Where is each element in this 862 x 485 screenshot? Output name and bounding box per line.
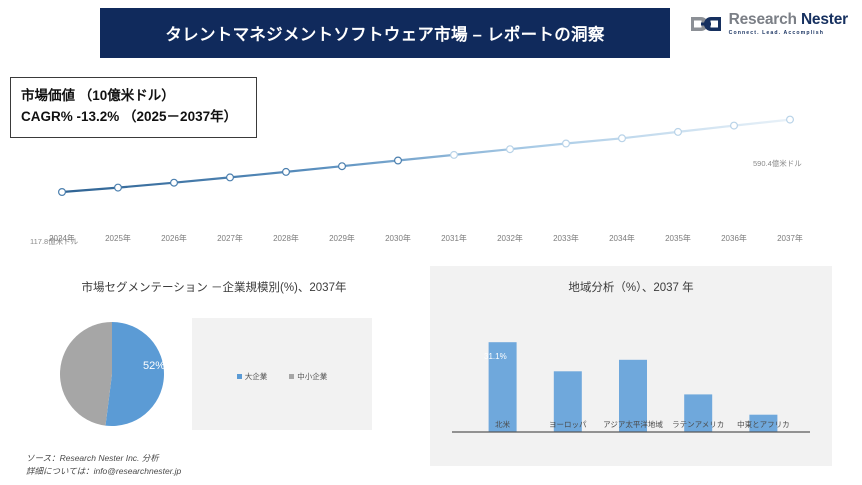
regional-analysis-title: 地域分析（%）、2037 年 bbox=[430, 280, 832, 297]
legend-item: 大企業 bbox=[237, 371, 268, 382]
bar-x-axis-label: 中東とアフリカ bbox=[737, 419, 790, 430]
x-axis-tick-label: 2028年 bbox=[273, 233, 299, 244]
bar-x-axis-label: 北米 bbox=[495, 419, 510, 430]
x-axis-tick-label: 2036年 bbox=[721, 233, 747, 244]
x-axis-tick-label: 2032年 bbox=[497, 233, 523, 244]
regional-bar-x-axis: 北米ヨーロッパアジア太平洋地域ラテンアメリカ中東とアフリカ bbox=[430, 419, 832, 433]
logo-word-research: Research bbox=[729, 11, 797, 28]
line-data-point bbox=[451, 152, 458, 159]
x-axis-tick-label: 2034年 bbox=[609, 233, 635, 244]
pie-slice-value-label: 52% bbox=[143, 360, 165, 372]
legend-swatch bbox=[237, 374, 242, 379]
line-data-point bbox=[619, 135, 626, 142]
x-axis-tick-label: 2033年 bbox=[553, 233, 579, 244]
x-axis-tick-label: 2027年 bbox=[217, 233, 243, 244]
legend-label: 中小企業 bbox=[297, 371, 327, 382]
segmentation-legend: 大企業中小企業 bbox=[192, 371, 372, 382]
line-data-point bbox=[59, 189, 66, 196]
line-data-point bbox=[227, 174, 234, 181]
line-chart-x-axis: 2024年2025年2026年2027年2028年2029年2030年2031年… bbox=[0, 233, 862, 249]
footer-contact: 詳細については：info@researchnester.jp bbox=[26, 465, 181, 478]
page-title: タレントマネジメントソフトウェア市場 – レポートの洞察 bbox=[165, 21, 604, 45]
x-axis-tick-label: 2031年 bbox=[441, 233, 467, 244]
line-data-point bbox=[563, 140, 570, 147]
x-axis-tick-label: 2029年 bbox=[329, 233, 355, 244]
legend-label: 大企業 bbox=[245, 371, 268, 382]
x-axis-tick-label: 2030年 bbox=[385, 233, 411, 244]
footer-source: ソース：Research Nester Inc. 分析 bbox=[26, 452, 181, 465]
bar-chart-svg bbox=[430, 310, 832, 455]
regional-bar-chart bbox=[430, 310, 832, 455]
brand-logo: Research Nester Connect. Lead. Accomplis… bbox=[689, 12, 848, 36]
header-band: タレントマネジメントソフトウェア市場 – レポートの洞察 bbox=[100, 8, 670, 58]
x-axis-tick-label: 2037年 bbox=[777, 233, 803, 244]
regional-analysis-panel: 地域分析（%）、2037 年 bbox=[430, 266, 832, 466]
bar-value-label: 31.1% bbox=[484, 352, 507, 361]
line-data-point bbox=[171, 179, 178, 186]
legend-item: 中小企業 bbox=[289, 371, 327, 382]
footer-note: ソース：Research Nester Inc. 分析 詳細については：info… bbox=[26, 452, 181, 478]
logo-tagline: Connect. Lead. Accomplish bbox=[729, 31, 848, 36]
logo-word-nester: Nester bbox=[801, 11, 848, 28]
line-data-point bbox=[115, 184, 122, 191]
x-axis-tick-label: 2035年 bbox=[665, 233, 691, 244]
line-data-point bbox=[507, 146, 514, 153]
bar-x-axis-label: ヨーロッパ bbox=[549, 419, 587, 430]
line-data-point bbox=[731, 122, 738, 129]
logo-wordmark: Research Nester bbox=[729, 12, 848, 28]
x-axis-tick-label: 2024年 bbox=[49, 233, 75, 244]
line-data-point bbox=[787, 116, 794, 123]
market-value-line-chart: 117.8億米ドル 590.4億米ドル bbox=[0, 70, 862, 250]
line-data-point bbox=[339, 163, 346, 170]
bar-x-axis-label: ラテンアメリカ bbox=[672, 419, 724, 430]
bar-x-axis-label: アジア太平洋地域 bbox=[603, 419, 663, 430]
line-data-point bbox=[395, 157, 402, 164]
line-data-point bbox=[675, 129, 682, 136]
pie-slice bbox=[60, 322, 112, 426]
segmentation-title: 市場セグメンテーション －企業規模別(%)、2037年 bbox=[28, 280, 400, 297]
legend-swatch bbox=[289, 374, 294, 379]
line-data-point bbox=[283, 169, 290, 176]
research-nester-logo-mark bbox=[689, 12, 723, 36]
pie-slice bbox=[105, 322, 164, 426]
line-end-value-label: 590.4億米ドル bbox=[753, 158, 802, 169]
line-chart-svg bbox=[0, 70, 862, 250]
x-axis-tick-label: 2025年 bbox=[105, 233, 131, 244]
x-axis-tick-label: 2026年 bbox=[161, 233, 187, 244]
